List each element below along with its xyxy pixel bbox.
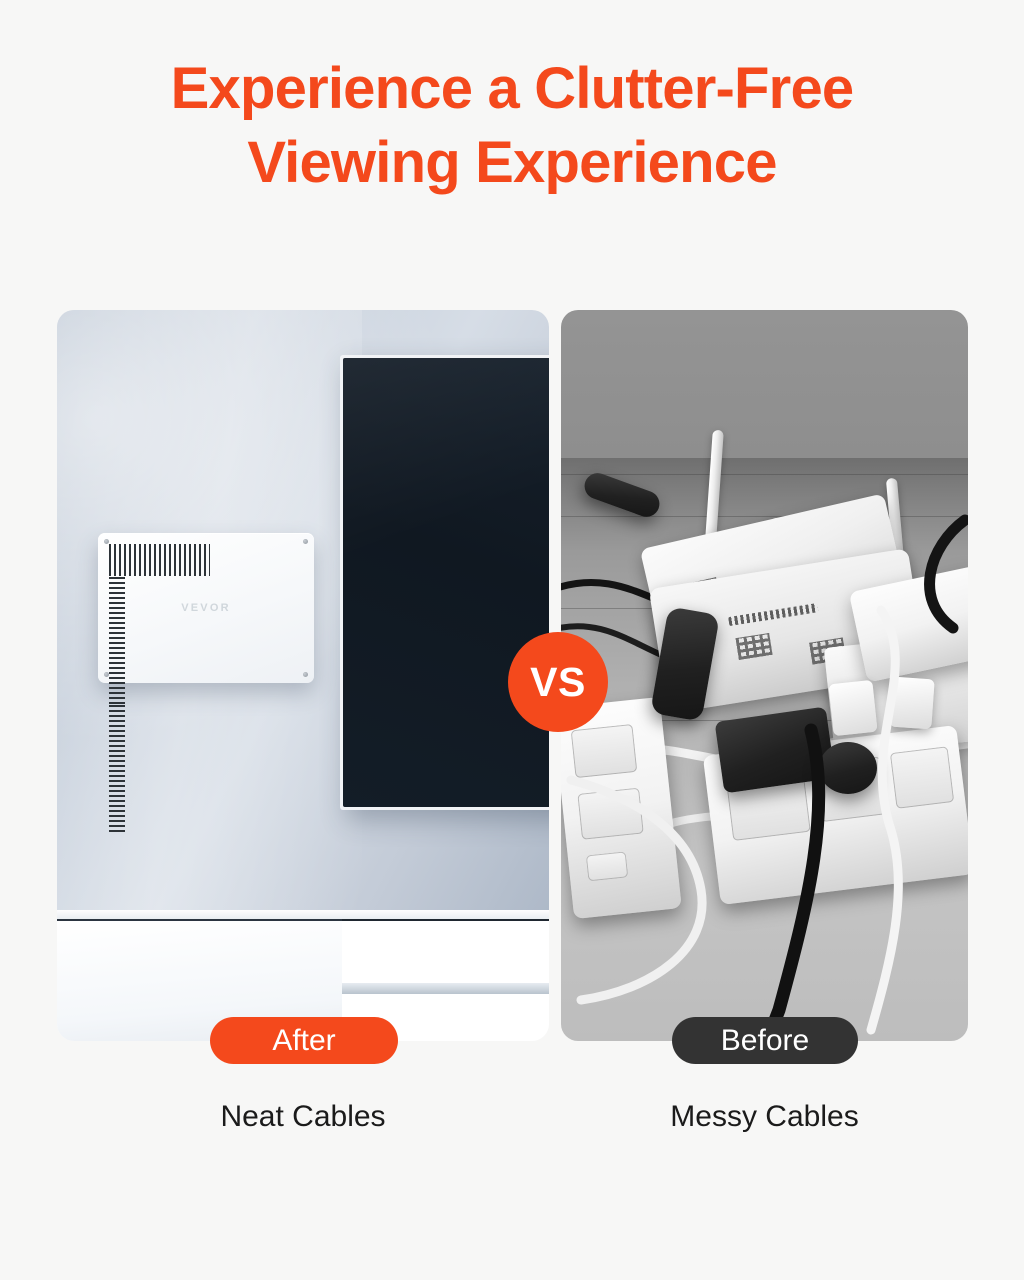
vs-badge-label: VS [530, 659, 586, 706]
promo-page: Experience a Clutter-Free Viewing Experi… [0, 0, 1024, 1280]
vent-slots-right [109, 704, 125, 832]
console-top-surface [57, 910, 549, 919]
vent-slots-top [109, 544, 210, 560]
vent-box-face: VEVOR [109, 544, 303, 672]
tv-screen [343, 358, 549, 807]
before-pill-text: Before [721, 1024, 809, 1058]
screw-icon [303, 672, 308, 677]
television [340, 355, 549, 810]
page-title: Experience a Clutter-Free Viewing Experi… [0, 52, 1024, 200]
after-image-panel: VEVOR [57, 310, 549, 1041]
vent-slots-bottom [109, 560, 210, 576]
recessed-vent-box: VEVOR [98, 533, 314, 683]
product-brand-label: VEVOR [109, 602, 303, 614]
before-image-panel [561, 310, 968, 1041]
vent-slots-left [109, 576, 125, 704]
after-pill-text: After [272, 1024, 335, 1058]
before-caption: Messy Cables [561, 1100, 968, 1134]
headline-line-2: Viewing Experience [0, 126, 1024, 200]
screw-icon [303, 539, 308, 544]
before-photo [561, 310, 968, 1041]
after-label-pill: After [210, 1017, 398, 1064]
headline-line-1: Experience a Clutter-Free [0, 52, 1024, 126]
vs-badge: VS [508, 632, 608, 732]
after-photo: VEVOR [57, 310, 549, 1041]
before-label-pill: Before [672, 1017, 858, 1064]
console-shelf-board [342, 983, 549, 994]
foreground-cables [561, 310, 968, 1041]
after-caption: Neat Cables [57, 1100, 549, 1134]
